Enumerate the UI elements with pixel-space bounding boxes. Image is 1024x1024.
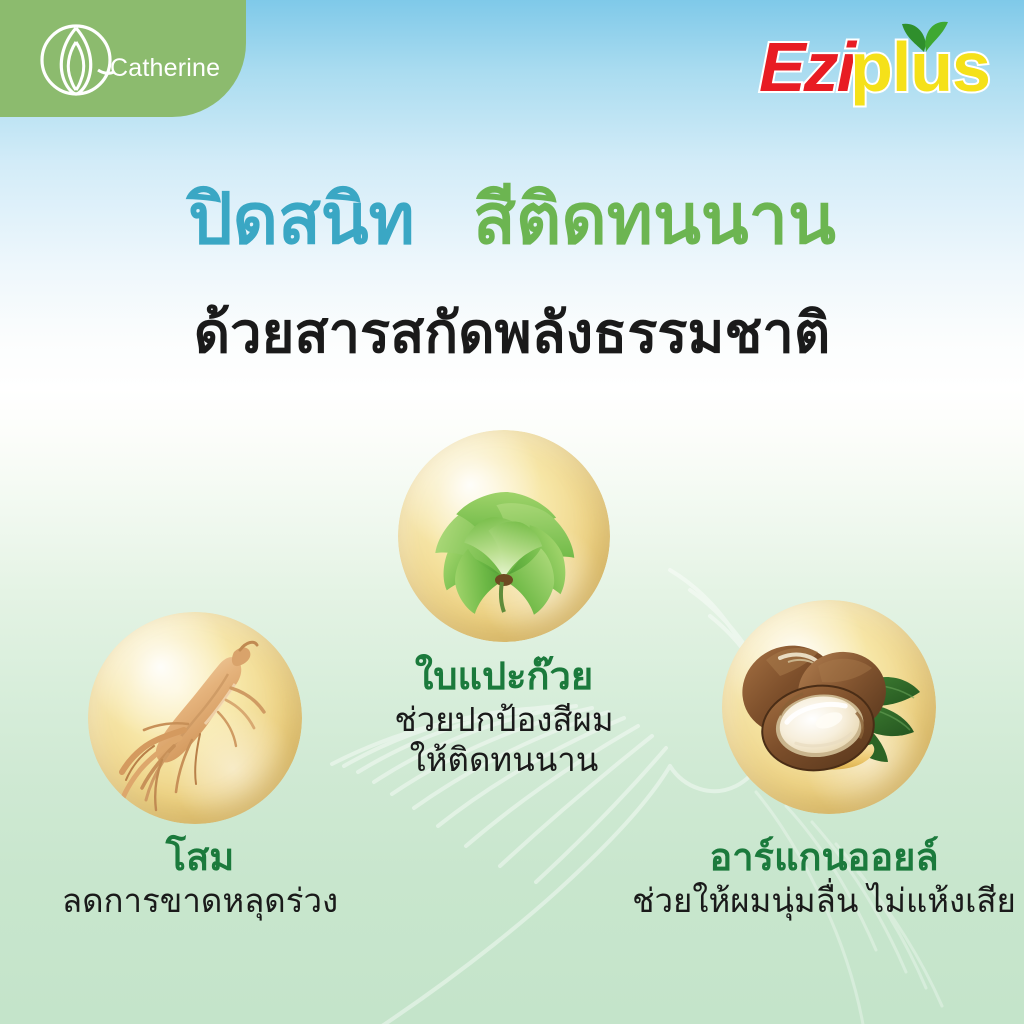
ginkgo-leaf-bubble (398, 430, 610, 642)
ingredient-caption-ginkgo: ใบแปะก๊วย ช่วยปกป้องสีผม ให้ติดทนนาน (304, 655, 704, 780)
page-subtitle: ด้วยสารสกัดพลังธรรมชาติ (0, 288, 1024, 377)
ingredient-desc-argan-line1: ช่วยให้ผมนุ่มลื่น ไม่แห้งเสีย (624, 882, 1024, 920)
ginseng-root-bubble (88, 612, 302, 824)
ingredient-desc-ginseng-line1: ลดการขาดหลุดร่วง (0, 882, 400, 920)
eziplus-leaf-icon (898, 14, 952, 54)
ingredient-title-ginseng: โสม (0, 836, 400, 880)
brand-tab: Catherine (0, 0, 246, 117)
ingredient-desc-ginkgo-line1: ช่วยปกป้องสีผม (304, 701, 704, 739)
ingredient-caption-ginseng: โสม ลดการขาดหลุดร่วง (0, 836, 400, 920)
ginkgo-leaf-illustration (398, 430, 610, 642)
ginseng-root-illustration (88, 612, 302, 824)
argan-nut-illustration (722, 600, 936, 814)
catherine-leaf-circle-logo (38, 22, 114, 98)
ingredient-title-ginkgo: ใบแปะก๊วย (304, 655, 704, 699)
eziplus-ezi-text: Ezi (759, 34, 854, 101)
headline-segment-2: สีติดทนนาน (473, 180, 836, 258)
page-title: ปิดสนิท สีติดทนนาน (0, 183, 1024, 257)
brand-name: Catherine (110, 54, 220, 83)
headline-segment-1: ปิดสนิท (188, 180, 415, 258)
eziplus-logo: Ezi plus (759, 22, 990, 100)
argan-nut-oil-bubble (722, 600, 936, 814)
ingredient-title-argan: อาร์แกนออยล์ (624, 836, 1024, 880)
ingredient-caption-argan: อาร์แกนออยล์ ช่วยให้ผมนุ่มลื่น ไม่แห้งเส… (624, 836, 1024, 920)
promo-poster: Catherine Ezi plus ปิดสนิท สีติดทนนาน ด้… (0, 0, 1024, 1024)
ingredient-desc-ginkgo-line2: ให้ติดทนนาน (304, 741, 704, 779)
